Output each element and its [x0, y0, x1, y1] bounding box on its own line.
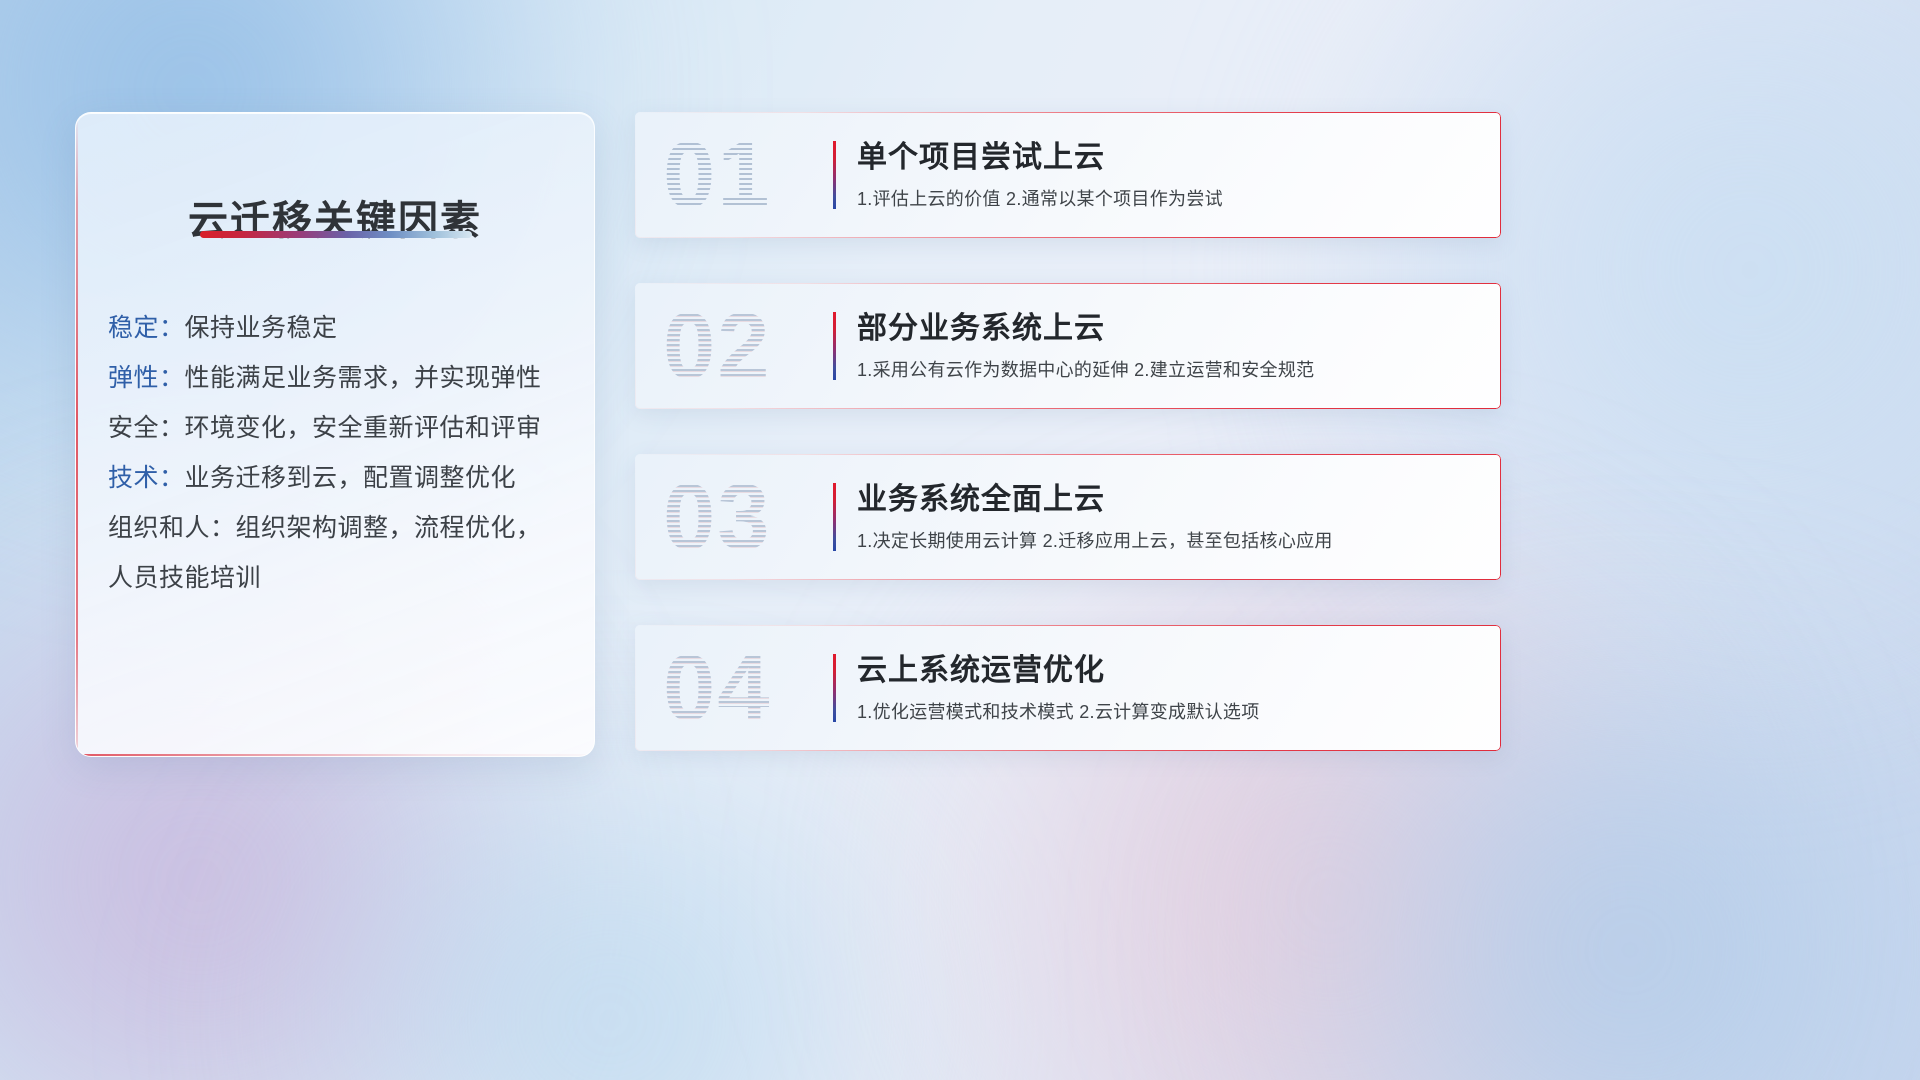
stage-accent-bar [833, 141, 836, 209]
stage-number-02: 02 [663, 299, 772, 393]
stage-heading: 云上系统运营优化 [857, 651, 1477, 691]
factor-text: 人员技能培训 [108, 564, 261, 592]
factor-text: 性能满足业务需求，并实现弹性 [185, 364, 542, 392]
factor-label: 安全： [108, 414, 185, 442]
stage-number-04: 04 [663, 641, 772, 735]
stage-accent-bar [833, 312, 836, 380]
stage-subtitle: 1.决定长期使用云计算 2.迁移应用上云，甚至包括核心应用 [857, 529, 1477, 553]
stage-subtitle: 1.采用公有云作为数据中心的延伸 2.建立运营和安全规范 [857, 358, 1477, 382]
factor-item: 技术：业务迁移到云，配置调整优化 [108, 453, 558, 503]
stage-card-body: 部分业务系统上云 1.采用公有云作为数据中心的延伸 2.建立运营和安全规范 [857, 309, 1477, 382]
factor-item-continuation: 人员技能培训 [108, 553, 558, 603]
factor-item: 安全：环境变化，安全重新评估和评审 [108, 403, 558, 453]
stage-card-body: 单个项目尝试上云 1.评估上云的价值 2.通常以某个项目作为尝试 [857, 138, 1477, 211]
factor-text: 业务迁移到云，配置调整优化 [185, 464, 517, 492]
stage-card[interactable]: 03 业务系统全面上云 1.决定长期使用云计算 2.迁移应用上云，甚至包括核心应… [635, 454, 1501, 580]
stage-heading: 部分业务系统上云 [857, 309, 1477, 349]
stage-number-01: 01 [663, 128, 772, 222]
stage-accent-bar [833, 483, 836, 551]
key-factors-panel: 云迁移关键因素 稳定：保持业务稳定 弹性：性能满足业务需求，并实现弹性 安全：环… [75, 112, 595, 757]
stage-card[interactable]: 01 单个项目尝试上云 1.评估上云的价值 2.通常以某个项目作为尝试 [635, 112, 1501, 238]
factor-label: 弹性： [108, 364, 185, 392]
factor-item: 组织和人：组织架构调整，流程优化， [108, 503, 558, 553]
stage-subtitle: 1.优化运营模式和技术模式 2.云计算变成默认选项 [857, 700, 1477, 724]
factor-label: 稳定： [108, 314, 185, 342]
factor-text: 环境变化，安全重新评估和评审 [185, 414, 542, 442]
stage-card[interactable]: 02 部分业务系统上云 1.采用公有云作为数据中心的延伸 2.建立运营和安全规范 [635, 283, 1501, 409]
stage-heading: 业务系统全面上云 [857, 480, 1477, 520]
factor-item: 稳定：保持业务稳定 [108, 303, 558, 353]
stage-card-body: 云上系统运营优化 1.优化运营模式和技术模式 2.云计算变成默认选项 [857, 651, 1477, 724]
stage-card-body: 业务系统全面上云 1.决定长期使用云计算 2.迁移应用上云，甚至包括核心应用 [857, 480, 1477, 553]
factor-item: 弹性：性能满足业务需求，并实现弹性 [108, 353, 558, 403]
stage-card-list: 01 单个项目尝试上云 1.评估上云的价值 2.通常以某个项目作为尝试 02 部… [635, 112, 1501, 796]
stage-heading: 单个项目尝试上云 [857, 138, 1477, 178]
factor-label: 组织和人： [108, 514, 236, 542]
title-underline-rule [200, 231, 472, 238]
stage-number-03: 03 [663, 470, 772, 564]
stage-subtitle: 1.评估上云的价值 2.通常以某个项目作为尝试 [857, 187, 1477, 211]
factor-text: 组织架构调整，流程优化， [236, 514, 542, 542]
factor-list: 稳定：保持业务稳定 弹性：性能满足业务需求，并实现弹性 安全：环境变化，安全重新… [76, 303, 594, 603]
stage-card[interactable]: 04 云上系统运营优化 1.优化运营模式和技术模式 2.云计算变成默认选项 [635, 625, 1501, 751]
factor-label: 技术： [108, 464, 185, 492]
stage-accent-bar [833, 654, 836, 722]
factor-text: 保持业务稳定 [185, 314, 338, 342]
